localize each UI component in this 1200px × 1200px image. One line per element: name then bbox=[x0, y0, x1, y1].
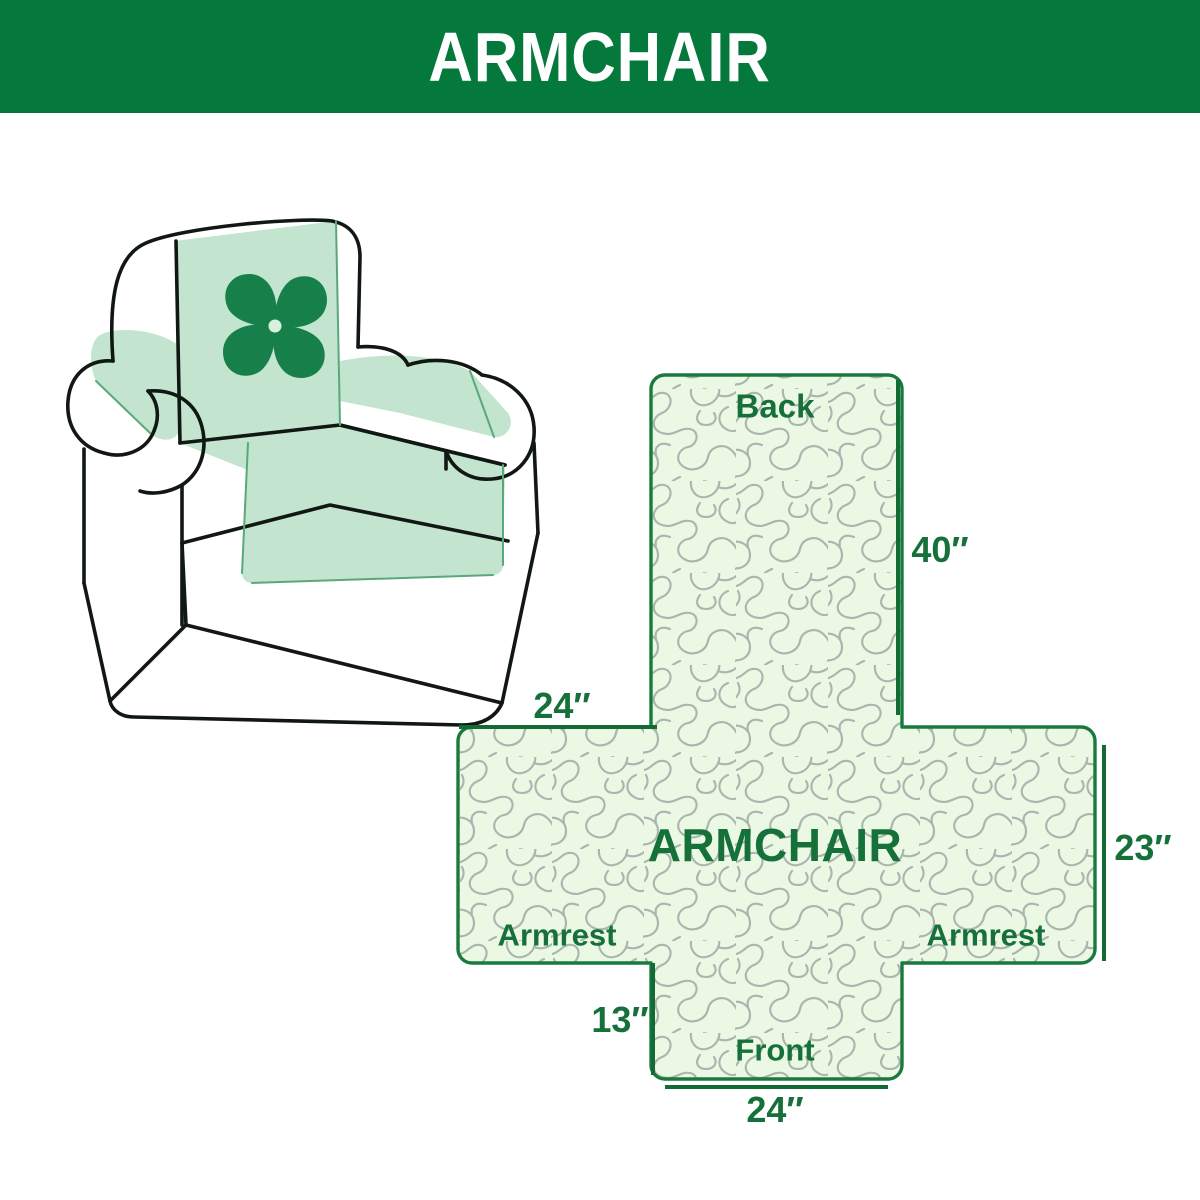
diagram-canvas: Back ARMCHAIR Armrest Armrest Front 40″ … bbox=[0, 113, 1200, 1200]
panel-label-center: ARMCHAIR bbox=[648, 822, 902, 868]
panel-label-armrest-left: Armrest bbox=[498, 920, 617, 951]
armchair-illustration bbox=[68, 220, 538, 725]
panel-label-back: Back bbox=[736, 390, 815, 423]
dimension-label-13: 13″ bbox=[591, 1002, 648, 1038]
dimension-label-24-top: 24″ bbox=[533, 688, 590, 724]
panel-label-armrest-right: Armrest bbox=[927, 920, 1046, 951]
dimension-label-24-bottom: 24″ bbox=[746, 1092, 803, 1128]
header-banner: ARMCHAIR bbox=[0, 0, 1200, 113]
dimension-label-40: 40″ bbox=[911, 532, 968, 568]
dimension-label-23: 23″ bbox=[1114, 830, 1171, 866]
page-title: ARMCHAIR bbox=[429, 22, 771, 92]
panel-label-front: Front bbox=[735, 1035, 814, 1066]
